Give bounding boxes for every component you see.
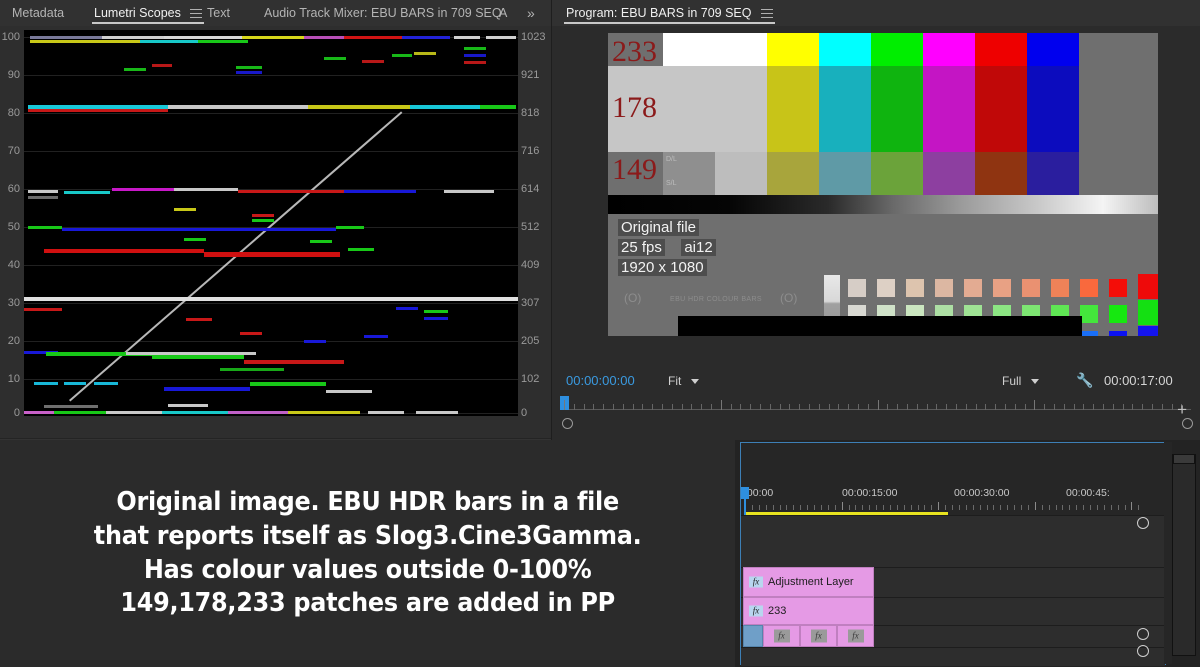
scrub-tick xyxy=(907,404,908,410)
tab-lumetri-scopes-label: Lumetri Scopes xyxy=(94,6,181,20)
scrub-tick xyxy=(946,404,947,410)
scrub-tick xyxy=(750,404,751,410)
timeline-ruler-tick xyxy=(1007,505,1008,510)
clip-blue-cap[interactable] xyxy=(743,625,763,647)
track-keyframe-circle[interactable] xyxy=(1137,645,1149,657)
scrub-tick xyxy=(927,404,928,410)
axis-right-tick: 409 xyxy=(521,259,539,271)
caption-line-1: Original image. EBU HDR bars in a file xyxy=(94,486,642,520)
scrub-tick xyxy=(1054,404,1055,410)
scrub-tick xyxy=(799,404,800,410)
timeline-ruler-tick xyxy=(897,505,898,510)
colour-bar-cell xyxy=(923,33,975,66)
tab-text-label: Text xyxy=(207,6,230,20)
scrub-tick xyxy=(1064,404,1065,410)
axis-right-tick: 614 xyxy=(521,183,539,195)
tab-program-monitor[interactable]: Program: EBU BARS in 709 SEQ xyxy=(564,0,775,26)
colour-bar-cell xyxy=(923,66,975,152)
panel-tab-bar: Metadata Lumetri Scopes Text Audio Track… xyxy=(0,0,1200,27)
colour-bar-cell xyxy=(819,152,871,195)
timeline-ruler-tick xyxy=(890,505,891,510)
scrub-tick xyxy=(789,404,790,410)
axis-right-tick: 512 xyxy=(521,221,539,233)
timeline-ruler-tick xyxy=(1125,505,1126,510)
speaker-left-icon: (O) xyxy=(624,291,641,305)
timeline-ruler-tick xyxy=(945,505,946,510)
track-keyframe-circle[interactable] xyxy=(1137,628,1149,640)
axis-left-tick: 90 xyxy=(8,69,20,81)
scrub-tick xyxy=(819,404,820,410)
caption-line-3: Has colour values outside 0-100% xyxy=(94,554,642,588)
speaker-right-icon: (O) xyxy=(780,291,797,305)
timeline-ruler-tick xyxy=(1118,505,1119,510)
axis-left-tick: 60 xyxy=(8,183,20,195)
fx-badge-icon: fx xyxy=(749,606,763,617)
panel-menu-icon[interactable] xyxy=(190,9,202,18)
settings-wrench-icon[interactable]: 🔧 xyxy=(1076,366,1093,394)
scrub-tick xyxy=(838,404,839,410)
zoom-level-dropdown[interactable]: Fit xyxy=(668,366,699,396)
timeline-ruler-tick xyxy=(1000,505,1001,510)
colour-bar-cell xyxy=(663,66,715,152)
patch-value-178: 178 xyxy=(612,93,657,123)
fx-badge-icon: fx xyxy=(811,630,827,643)
axis-right-tick: 716 xyxy=(521,145,539,157)
timeline-ruler-tick xyxy=(766,505,767,510)
scrub-tick xyxy=(593,404,594,410)
program-panel-menu-icon[interactable] xyxy=(761,9,773,18)
caption-line-2: that reports itself as Slog3.Cine3Gamma. xyxy=(94,520,642,554)
tab-lumetri-scopes[interactable]: Lumetri Scopes xyxy=(92,0,204,26)
clip-small-1[interactable]: fx xyxy=(763,625,800,647)
axis-left-tick: 70 xyxy=(8,145,20,157)
timeline-ruler-tick xyxy=(959,505,960,510)
scrub-tick xyxy=(1142,404,1143,410)
colour-bar-cell xyxy=(1027,66,1079,152)
scrub-tick xyxy=(564,400,565,410)
swatch-red-ramp xyxy=(906,279,924,297)
timeline-ruler-tick xyxy=(780,505,781,510)
scrub-tick xyxy=(995,404,996,410)
timeline-ruler-tick xyxy=(966,505,967,510)
colour-bar-cell xyxy=(819,66,871,152)
timeline-ruler-tick xyxy=(807,505,808,510)
timeline-ruler-tick xyxy=(876,505,877,510)
right-panel-tabs: Program: EBU BARS in 709 SEQ xyxy=(551,0,1200,26)
ruler-label: 00:00:30:00 xyxy=(954,487,1009,499)
scrub-tick xyxy=(662,404,663,410)
timeline-ruler-tick xyxy=(800,505,801,510)
scrub-tick xyxy=(780,404,781,410)
scrub-tick xyxy=(584,404,585,410)
ruler-label: 00:00:45: xyxy=(1066,487,1110,499)
audio-track-a2[interactable] xyxy=(741,647,1165,666)
timeline-ruler-tick xyxy=(993,505,994,510)
monitor-info-overlay: Original file 25 fps ai12 1920 x 1080 xyxy=(618,219,716,279)
clip-small-3[interactable]: fx xyxy=(837,625,874,647)
scrub-tick xyxy=(1034,400,1035,410)
tab-text[interactable]: Text xyxy=(205,0,232,26)
axis-left-tick: 40 xyxy=(8,259,20,271)
premiere-pro-window: Metadata Lumetri Scopes Text Audio Track… xyxy=(0,0,1200,667)
current-timecode[interactable]: 00:00:00:00 xyxy=(566,366,635,396)
scrub-tick xyxy=(1172,404,1173,410)
timeline-scrollbar-thumb[interactable] xyxy=(1173,454,1195,464)
axis-left-tick: 50 xyxy=(8,221,20,233)
swatch-red-ramp xyxy=(848,279,866,297)
axis-left-tick: 10 xyxy=(8,373,20,385)
timeline-playhead-icon[interactable] xyxy=(741,487,749,499)
monitor-transport-bar: 00:00:00:00 Fit Full 🔧 00:00:17:00 xyxy=(552,366,1200,396)
patch-value-149: 149 xyxy=(612,155,657,185)
timeline-ruler-tick xyxy=(1049,505,1050,510)
info-codec: ai12 xyxy=(681,239,715,256)
timeline-ruler-tick xyxy=(849,505,850,510)
scope-axis-left: 100 90 80 70 60 50 40 30 20 10 0 xyxy=(0,30,22,416)
colour-bar-cell xyxy=(767,66,819,152)
scrub-tick xyxy=(887,404,888,410)
timeline-ruler-tick xyxy=(869,505,870,510)
timeline-ruler-tick xyxy=(752,505,753,510)
timeline-ruler-tick xyxy=(1014,505,1015,510)
tab-metadata[interactable]: Metadata xyxy=(10,0,66,26)
scrub-tick xyxy=(1123,404,1124,410)
colour-bar-cell xyxy=(715,33,767,66)
timeline-panel: :00:00 00:00:15:00 00:00:30:00 00:00:45:… xyxy=(735,440,1200,667)
scrub-tick xyxy=(1113,404,1114,410)
scrub-tick xyxy=(721,400,722,410)
timeline-ruler-tick xyxy=(1021,505,1022,510)
colour-bar-cell xyxy=(975,152,1027,195)
quality-dropdown[interactable]: Full xyxy=(1002,366,1039,396)
scrub-tick xyxy=(682,404,683,410)
timeline-ruler-tick xyxy=(904,505,905,510)
add-marker-button[interactable]: + xyxy=(1177,400,1187,420)
colour-bar-cell xyxy=(871,33,923,66)
swatch-red-ramp xyxy=(993,279,1011,297)
waveform-scope-graph[interactable] xyxy=(24,30,518,416)
scrub-tick xyxy=(976,404,977,410)
timeline-ruler-tick xyxy=(952,505,953,510)
program-monitor-image[interactable]: D/L S/L 233 178 149 Original file 25 fps… xyxy=(608,33,1158,336)
axis-left-tick: 100 xyxy=(2,31,20,43)
timeline-ruler-tick xyxy=(862,505,863,510)
colour-bar-cell xyxy=(1079,152,1158,195)
tab-audio-track-mixer-label: Audio Track Mixer: EBU BARS in 709 SEQ xyxy=(264,6,502,20)
clip-small-2[interactable]: fx xyxy=(800,625,837,647)
timeline-ruler-tick xyxy=(1062,505,1063,510)
timeline-ruler-tick xyxy=(842,502,843,510)
ruler-label: 00:00:15:00 xyxy=(842,487,897,499)
swatch-green-ramp xyxy=(1109,305,1127,323)
scrub-tick xyxy=(574,404,575,410)
colour-bar-cell xyxy=(871,66,923,152)
swatch-red-ramp xyxy=(1022,279,1040,297)
caption-text: Original image. EBU HDR bars in a file t… xyxy=(94,486,642,621)
scrub-tick xyxy=(809,404,810,410)
colour-bar-cell xyxy=(767,152,819,195)
caption-line-4: 149,178,233 patches are added in PP xyxy=(94,587,642,621)
tab-overflow-chevrons-label: » xyxy=(527,5,535,21)
timeline-ruler-tick xyxy=(786,505,787,510)
scrub-tick xyxy=(985,404,986,410)
axis-right-tick: 307 xyxy=(521,297,539,309)
swatch-red-ramp xyxy=(1109,279,1127,297)
quality-value: Full xyxy=(1002,374,1021,388)
fx-badge-icon: fx xyxy=(848,630,864,643)
fx-badge-icon: fx xyxy=(774,630,790,643)
timeline-ruler-tick xyxy=(835,505,836,510)
timeline-ruler-tick xyxy=(931,505,932,510)
timeline-ruler-tick xyxy=(1104,505,1105,510)
scrub-tick xyxy=(936,404,937,410)
swatch-blue-ramp xyxy=(1080,331,1098,336)
info-resolution: 1920 x 1080 xyxy=(618,259,707,276)
timeline-ruler-tick xyxy=(924,505,925,510)
timeline-sequence[interactable]: :00:00 00:00:15:00 00:00:30:00 00:00:45:… xyxy=(740,442,1166,665)
tab-overflow-chevrons-icon[interactable]: » xyxy=(525,0,537,26)
timeline-ruler-tick xyxy=(1076,505,1077,510)
scrub-tick xyxy=(613,404,614,410)
axis-right-tick: 1023 xyxy=(521,31,545,43)
gradient-ramp-strip xyxy=(608,195,1158,214)
fx-badge-icon: fx xyxy=(749,577,763,588)
axis-left-tick: 30 xyxy=(8,297,20,309)
timeline-ruler-tick xyxy=(1028,505,1029,510)
in-point-marker[interactable] xyxy=(562,418,573,429)
clip-name-label: Adjustment Layer xyxy=(768,576,854,588)
scrub-tick xyxy=(603,404,604,410)
swatch-big-blue-ramp xyxy=(1138,326,1158,336)
colour-bar-cell xyxy=(1027,152,1079,195)
clip-233[interactable]: fx 233 xyxy=(743,597,874,625)
timeline-ruler-tick xyxy=(773,505,774,510)
scrub-tick xyxy=(848,404,849,410)
scrub-tick xyxy=(966,404,967,410)
timeline-ruler-tick xyxy=(973,505,974,510)
scrub-tick xyxy=(731,404,732,410)
lumetri-scopes-panel: 100 90 80 70 60 50 40 30 20 10 0 xyxy=(0,26,551,440)
scrub-tick xyxy=(1005,404,1006,410)
timeline-ruler-tick xyxy=(759,505,760,510)
axis-left-tick: 80 xyxy=(8,107,20,119)
scrub-tick xyxy=(672,404,673,410)
patch-value-233: 233 xyxy=(612,37,657,67)
scrub-tick xyxy=(760,404,761,410)
caption-area: Original image. EBU HDR bars in a file t… xyxy=(0,440,735,667)
scrub-tick xyxy=(1162,404,1163,410)
info-fps: 25 fps xyxy=(618,239,665,256)
colour-bar-cell xyxy=(767,33,819,66)
duration-timecode: 00:00:17:00 xyxy=(1104,366,1173,396)
timeline-ruler-tick xyxy=(855,505,856,510)
video-track-v3[interactable] xyxy=(741,515,1165,568)
swatch-big-red-ramp xyxy=(1138,274,1158,299)
chart-name-label: EBU HDR COLOUR BARS xyxy=(670,296,762,303)
scrub-tick xyxy=(829,404,830,410)
timeline-ruler-tick xyxy=(938,502,939,510)
axis-right-tick: 921 xyxy=(521,69,539,81)
sl-label: S/L xyxy=(666,180,677,187)
timeline-ruler-tick xyxy=(1090,505,1091,510)
timeline-gap xyxy=(1164,442,1172,664)
colour-bar-cell xyxy=(663,33,715,66)
scrub-tick xyxy=(691,404,692,410)
scrub-tick xyxy=(1093,404,1094,410)
timeline-ruler-tick xyxy=(828,505,829,510)
scrub-tick xyxy=(1044,404,1045,410)
colour-bar-cell xyxy=(1079,33,1158,66)
timeline-ruler-tick xyxy=(793,505,794,510)
left-panel-tabs: Metadata Lumetri Scopes Text Audio Track… xyxy=(0,0,551,26)
scrub-tick xyxy=(652,404,653,410)
scrub-tick xyxy=(868,404,869,410)
axis-right-tick: 818 xyxy=(521,107,539,119)
scrub-tick xyxy=(1152,404,1153,410)
timeline-ruler-tick xyxy=(814,505,815,510)
tab-overflow-letter[interactable]: A xyxy=(497,0,509,26)
scrub-tick xyxy=(1132,404,1133,410)
scrub-tick xyxy=(878,400,879,410)
monitor-black-bar xyxy=(678,316,1082,336)
colour-bar-cell xyxy=(923,152,975,195)
colour-bar-cell xyxy=(1079,66,1158,152)
track-keyframe-circle[interactable] xyxy=(1137,517,1149,529)
zoom-level-value: Fit xyxy=(668,374,681,388)
colour-bar-cell xyxy=(715,66,767,152)
timeline-ruler-tick xyxy=(1097,505,1098,510)
scrub-tick xyxy=(956,404,957,410)
timeline-vertical-scrollbar[interactable] xyxy=(1172,454,1196,656)
timeline-ruler-tick xyxy=(1131,502,1132,510)
timeline-ruler-tick xyxy=(980,505,981,510)
axis-left-tick: 20 xyxy=(8,335,20,347)
timeline-ruler-tick xyxy=(1042,505,1043,510)
timeline-ruler-tick xyxy=(883,505,884,510)
swatch-green-ramp xyxy=(1080,305,1098,323)
scrub-tick xyxy=(642,404,643,410)
timeline-ruler-tick xyxy=(1138,505,1139,510)
timeline-ruler-tick xyxy=(1111,505,1112,510)
tab-program-monitor-label: Program: EBU BARS in 709 SEQ xyxy=(566,6,752,20)
axis-right-tick: 205 xyxy=(521,335,539,347)
chevron-down-icon xyxy=(1031,379,1039,384)
scope-axis-right: 1023 921 818 716 614 512 409 307 205 102… xyxy=(519,30,551,416)
tab-metadata-label: Metadata xyxy=(12,6,64,20)
timeline-ruler-tick xyxy=(911,505,912,510)
axis-right-tick: 0 xyxy=(521,407,527,419)
timeline-ruler-tick xyxy=(1069,505,1070,510)
scrub-tick xyxy=(1015,404,1016,410)
monitor-scrub-bar[interactable] xyxy=(552,396,1200,430)
swatch-big-green-ramp xyxy=(1138,300,1158,325)
swatch-blue-ramp xyxy=(1109,331,1127,336)
swatch-red-ramp xyxy=(964,279,982,297)
scrub-tick xyxy=(623,404,624,410)
timeline-ruler-tick xyxy=(987,505,988,510)
scrub-tick xyxy=(701,404,702,410)
swatch-red-ramp xyxy=(1080,279,1098,297)
scrub-tick xyxy=(897,404,898,410)
timeline-ruler-tick xyxy=(918,505,919,510)
scrub-tick xyxy=(770,404,771,410)
scrub-tick xyxy=(711,404,712,410)
timeline-ruler-tick xyxy=(1035,502,1036,510)
clip-adjustment-layer[interactable]: fx Adjustment Layer xyxy=(743,567,874,597)
dl-label: D/L xyxy=(666,156,677,163)
chevron-down-icon xyxy=(691,379,699,384)
swatch-red-ramp xyxy=(877,279,895,297)
timeline-ruler-tick xyxy=(1056,505,1057,510)
tab-audio-track-mixer[interactable]: Audio Track Mixer: EBU BARS in 709 SEQ xyxy=(262,0,504,26)
scrub-tick xyxy=(633,404,634,410)
swatch-red-ramp xyxy=(935,279,953,297)
timeline-ruler-tick xyxy=(821,505,822,510)
axis-right-tick: 102 xyxy=(521,373,539,385)
colour-bar-cell xyxy=(975,66,1027,152)
plus-icon: + xyxy=(1177,400,1187,419)
colour-bar-cell xyxy=(819,33,871,66)
program-monitor-panel: D/L S/L 233 178 149 Original file 25 fps… xyxy=(551,26,1200,440)
scrub-tick xyxy=(917,404,918,410)
colour-bar-cell xyxy=(1027,33,1079,66)
colour-bar-cell xyxy=(715,152,767,195)
tab-overflow-letter-label: A xyxy=(499,6,507,20)
scrub-tick xyxy=(1103,404,1104,410)
info-original-file: Original file xyxy=(618,219,699,236)
scrub-tick xyxy=(740,404,741,410)
swatch-red-ramp xyxy=(1051,279,1069,297)
scrub-tick xyxy=(858,404,859,410)
scrub-tick xyxy=(1025,404,1026,410)
scrub-tick xyxy=(1083,404,1084,410)
scrub-tick xyxy=(1074,404,1075,410)
timeline-ruler-tick xyxy=(1083,505,1084,510)
axis-left-tick: 0 xyxy=(14,407,20,419)
colour-bar-cell xyxy=(871,152,923,195)
colour-bar-cell xyxy=(975,33,1027,66)
clip-name-label: 233 xyxy=(768,605,786,617)
